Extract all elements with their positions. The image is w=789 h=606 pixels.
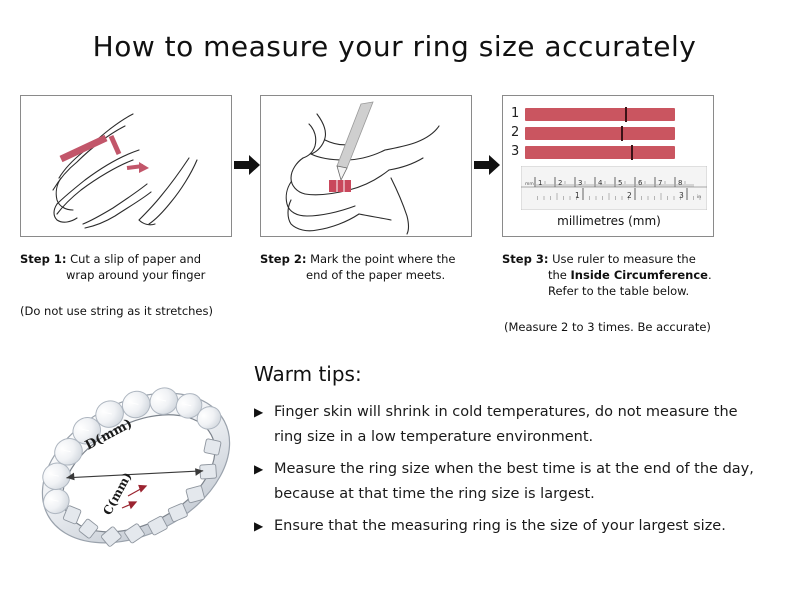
strip-number: 2 xyxy=(511,126,525,140)
paper-strips-group: 1 2 3 xyxy=(511,106,707,163)
strip-mark xyxy=(631,145,633,160)
ruler-metric-unit: mm xyxy=(525,182,534,187)
strip-number: 1 xyxy=(511,107,525,121)
svg-text:6: 6 xyxy=(638,179,643,187)
svg-text:2: 2 xyxy=(558,179,562,187)
strip-number: 3 xyxy=(511,145,525,159)
step-3-caption: Step 3: Use ruler to measure the the Ins… xyxy=(502,251,714,299)
triangle-bullet-icon: ▶ xyxy=(254,457,263,482)
strip-bar xyxy=(525,108,675,121)
ring-diagram-illustration: D(mm) C(mm) xyxy=(24,356,249,581)
ruler-inch-unit: in xyxy=(697,194,701,200)
step-column-1: Step 1: Cut a slip of paper and wrap aro… xyxy=(20,95,232,319)
step-3-panel: 1 2 3 12345678 12 xyxy=(502,95,714,237)
tip-item: ▶ Finger skin will shrink in cold temper… xyxy=(254,400,754,450)
triangle-bullet-icon: ▶ xyxy=(254,400,263,425)
warm-tips-title: Warm tips: xyxy=(254,362,754,386)
ruler-units-label: millimetres (mm) xyxy=(503,214,714,228)
tip-text: Ensure that the measuring ring is the si… xyxy=(274,518,726,534)
svg-text:4: 4 xyxy=(598,179,603,187)
svg-text:5: 5 xyxy=(618,179,622,187)
step-1-tag: Step 1: xyxy=(20,252,66,266)
lower-section: D(mm) C(mm) Warm tips: ▶ Finger skin wil… xyxy=(0,348,789,606)
hand-with-paper-illustration xyxy=(21,96,231,236)
step-1-note: (Do not use string as it stretches) xyxy=(20,303,232,319)
step-2-line1: Mark the point where the xyxy=(310,252,455,266)
svg-text:7: 7 xyxy=(658,179,662,187)
tip-text: Measure the ring size when the best time… xyxy=(274,461,754,502)
strip-row: 1 xyxy=(511,106,707,122)
strip-row: 3 xyxy=(511,144,707,160)
warm-tips-section: Warm tips: ▶ Finger skin will shrink in … xyxy=(254,362,754,546)
arrow-right-icon xyxy=(232,150,262,180)
step-3-line2-pre: the xyxy=(548,268,571,282)
tip-text: Finger skin will shrink in cold temperat… xyxy=(274,404,738,445)
step-3-line2-post: . xyxy=(708,268,712,282)
hand-marking-paper-illustration xyxy=(261,96,471,236)
inside-circumference-emphasis: Inside Circumference xyxy=(571,268,708,282)
step-3-line3: Refer to the table below. xyxy=(502,283,714,299)
step-column-3: 1 2 3 12345678 12 xyxy=(502,95,714,335)
svg-text:8: 8 xyxy=(678,179,682,187)
step-1-panel xyxy=(20,95,232,237)
step-1-line1: Cut a slip of paper and xyxy=(70,252,201,266)
step-2-tag: Step 2: xyxy=(260,252,306,266)
step-1-line2: wrap around your finger xyxy=(20,267,232,283)
svg-text:1: 1 xyxy=(575,191,580,200)
svg-text:1: 1 xyxy=(538,179,542,187)
svg-text:3: 3 xyxy=(578,179,582,187)
step-2-line2: end of the paper meets. xyxy=(260,267,472,283)
step-1-caption: Step 1: Cut a slip of paper and wrap aro… xyxy=(20,251,232,283)
arrow-right-icon xyxy=(472,150,502,180)
tip-item: ▶ Measure the ring size when the best ti… xyxy=(254,457,754,507)
tip-item: ▶ Ensure that the measuring ring is the … xyxy=(254,514,754,539)
step-column-2: Step 2: Mark the point where the end of … xyxy=(260,95,472,283)
svg-text:2: 2 xyxy=(627,191,632,200)
step-3-line1: Use ruler to measure the xyxy=(552,252,696,266)
steps-row: Step 1: Cut a slip of paper and wrap aro… xyxy=(0,95,789,340)
step-3-tag: Step 3: xyxy=(502,252,548,266)
page-title: How to measure your ring size accurately xyxy=(0,30,789,63)
step-3-note: (Measure 2 to 3 times. Be accurate) xyxy=(502,319,714,335)
strip-row: 2 xyxy=(511,125,707,141)
ruler-illustration: 12345678 123 mm in xyxy=(521,166,707,210)
triangle-bullet-icon: ▶ xyxy=(254,514,263,539)
strip-mark xyxy=(621,126,623,141)
strip-mark xyxy=(625,107,627,122)
step-2-caption: Step 2: Mark the point where the end of … xyxy=(260,251,472,283)
strip-bar xyxy=(525,146,675,159)
strip-bar xyxy=(525,127,675,140)
step-2-panel xyxy=(260,95,472,237)
svg-text:3: 3 xyxy=(679,191,684,200)
